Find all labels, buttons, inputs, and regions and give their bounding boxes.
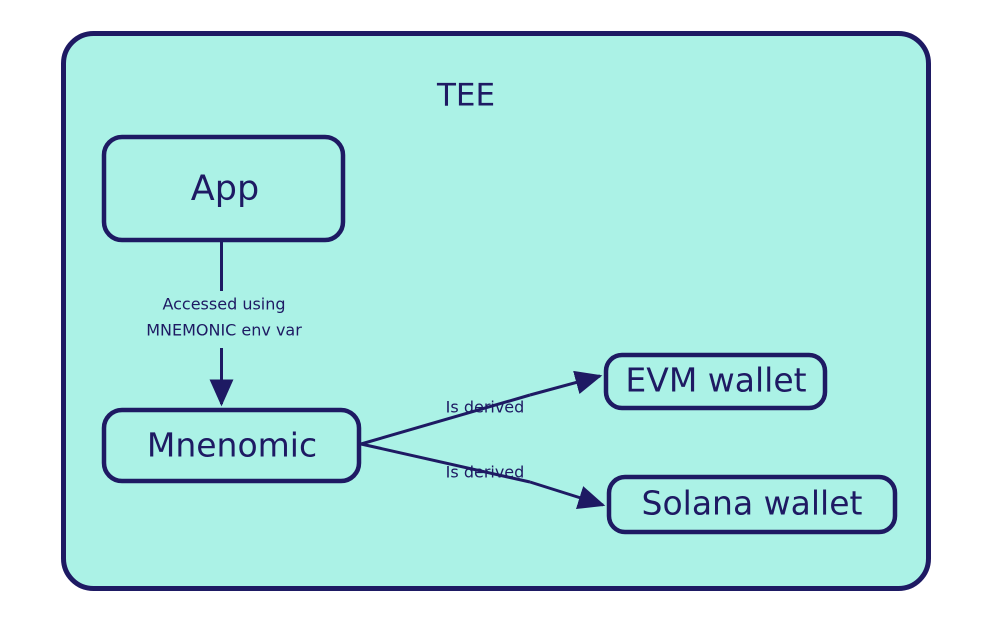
tee-architecture-diagram: TEE Accessed using MNEMONIC env var Is d… [0,0,996,632]
node-solana-wallet-label: Solana wallet [642,484,863,523]
node-evm-wallet[interactable]: EVM wallet [606,355,825,408]
node-solana-wallet[interactable]: Solana wallet [609,477,895,532]
node-evm-wallet-label: EVM wallet [625,361,806,400]
edge-app-to-mnenomic-label-line1: Accessed using [162,295,285,314]
edge-app-to-mnenomic-label-line2: MNEMONIC env var [146,321,302,340]
node-mnenomic-label: Mnenomic [147,426,317,465]
node-app-label: App [191,169,259,209]
edge-mnenomic-to-solana-label: Is derived [446,463,525,482]
tee-boundary-label: TEE [436,78,495,114]
node-mnenomic[interactable]: Mnenomic [104,410,359,481]
node-app[interactable]: App [104,137,343,240]
edge-mnenomic-to-evm-label: Is derived [446,398,525,417]
diagram-canvas: TEE Accessed using MNEMONIC env var Is d… [0,0,996,632]
